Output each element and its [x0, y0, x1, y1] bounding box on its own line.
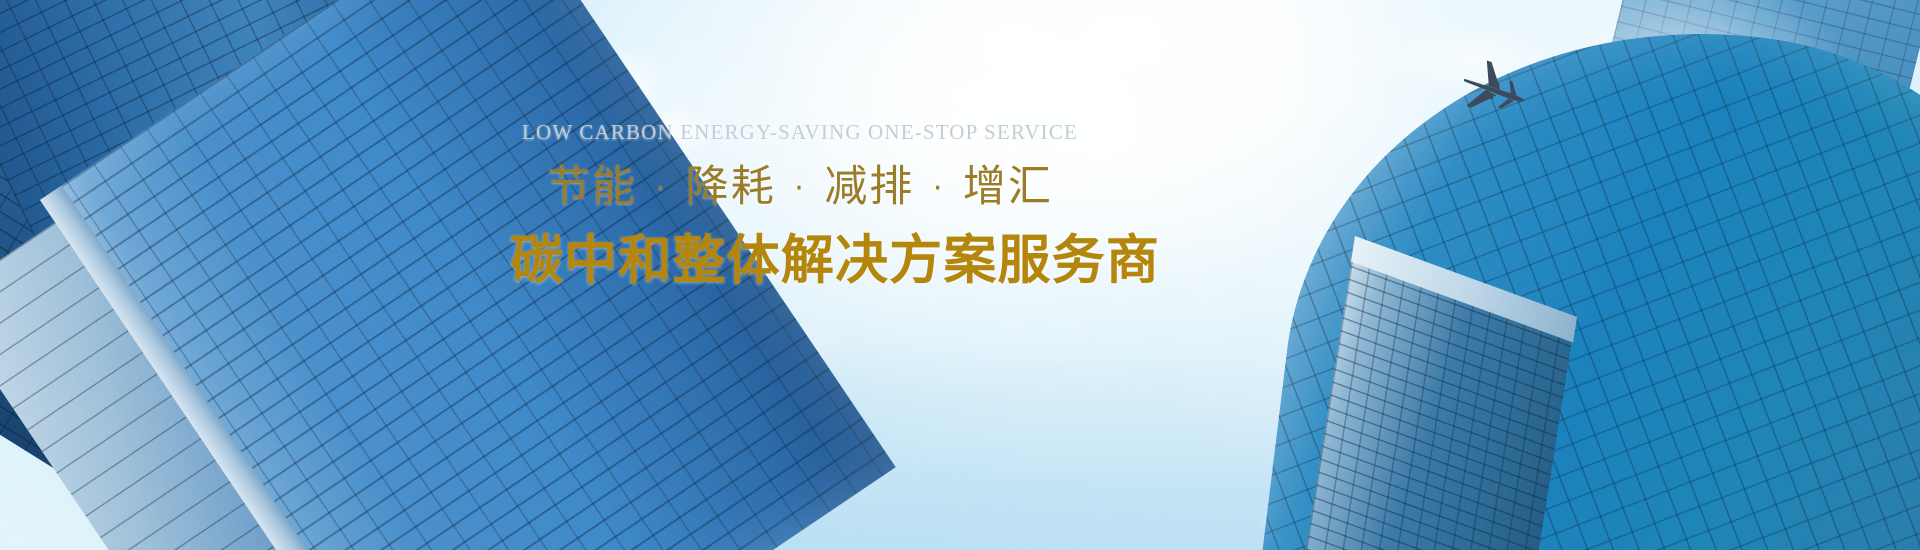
hero-copy: LOW CARBON ENERGY-SAVING ONE-STOP SERVIC… [510, 120, 1090, 293]
tagline-part-4: 增汇 [963, 162, 1053, 212]
skyscraper-right-base [1551, 402, 1920, 550]
tagline-part-1: 节能 [547, 162, 637, 212]
skyscraper-right-front [1274, 240, 1576, 550]
airplane-icon [1455, 58, 1530, 120]
hero-eyebrow: LOW CARBON ENERGY-SAVING ONE-STOP SERVIC… [510, 120, 1090, 145]
cloud-bottom-left-low [236, 372, 685, 550]
haze-right-top [1560, 0, 1920, 270]
cloud-bottom-right [1240, 450, 1660, 550]
skyscraper-right-rear [1558, 0, 1920, 330]
skyscraper-left-front-mullion [40, 185, 453, 550]
tagline-part-2: 降耗 [686, 162, 776, 212]
hero-tagline: 节能 · 降耗 · 减排 · 增汇 [510, 162, 1090, 213]
cloud-bottom-left [300, 330, 860, 550]
tagline-part-3: 减排 [824, 162, 914, 212]
tagline-separator-3: · [930, 171, 947, 206]
curved-glass-tower [1254, 0, 1920, 550]
curved-glass-tower-rim [1254, 0, 1920, 550]
hero-banner: LOW CARBON ENERGY-SAVING ONE-STOP SERVIC… [0, 0, 1920, 550]
skyscraper-left-low-slab [0, 132, 424, 550]
skyscraper-left-upper-slab [0, 0, 525, 550]
skyscraper-right-front-cornice [1351, 236, 1577, 343]
tagline-separator-2: · [791, 171, 808, 206]
tagline-separator-1: · [653, 171, 670, 206]
hero-headline: 碳中和整体解决方案服务商 [510, 229, 1090, 293]
